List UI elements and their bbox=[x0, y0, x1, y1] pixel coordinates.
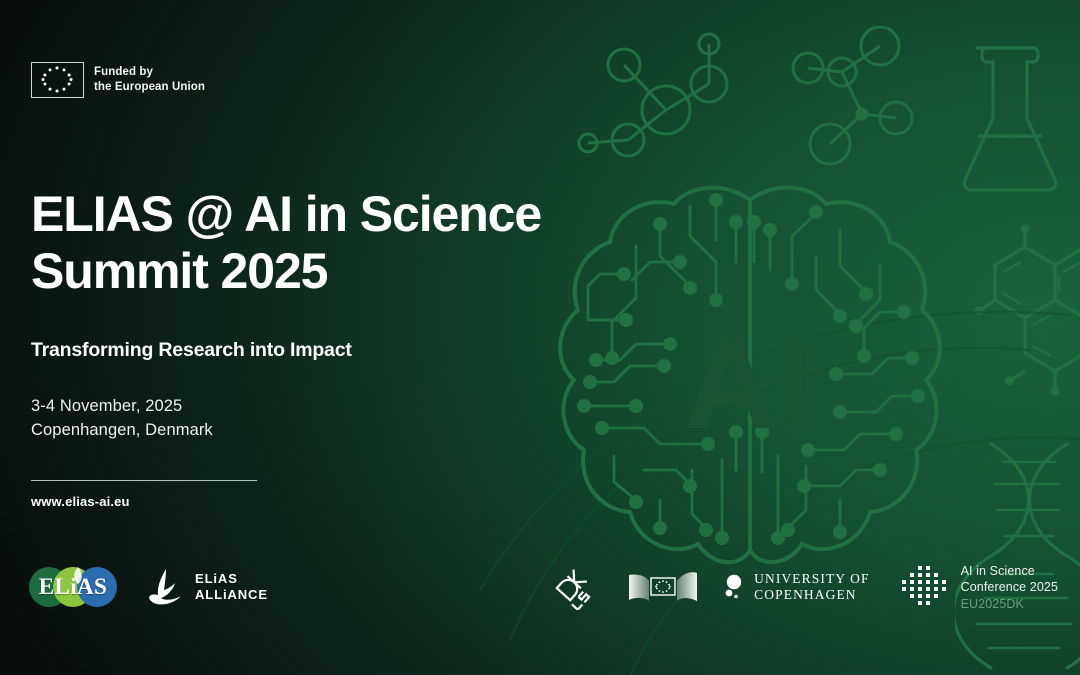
eu2025dk-monogram-logo[interactable] bbox=[555, 564, 601, 610]
alliance-wordmark: ELiAS ALLiANCE bbox=[195, 571, 268, 603]
headline-block: ELIAS @ AI in Science Summit 2025 Transf… bbox=[31, 186, 631, 509]
divider bbox=[31, 480, 257, 481]
organizer-logos: ELiAS ELiAS ALLiANCE bbox=[29, 566, 268, 608]
eu-flag-icon bbox=[31, 62, 84, 98]
ais-line-2: Conference 2025 bbox=[961, 579, 1058, 595]
eu2025dk-monogram-icon bbox=[555, 564, 601, 610]
date-location: 3-4 November, 2025 Copenhangen, Denmark bbox=[31, 395, 631, 443]
funded-by-label: Funded by the European Union bbox=[94, 65, 205, 95]
eu-presidency-icon bbox=[627, 567, 699, 607]
elias-logo[interactable]: ELiAS bbox=[29, 566, 117, 608]
dot-matrix-icon bbox=[896, 564, 950, 610]
ucph-wordmark: UNIVERSITY OF COPENHAGEN bbox=[754, 571, 869, 603]
website-url[interactable]: www.elias-ai.eu bbox=[31, 494, 631, 509]
partner-logos: UNIVERSITY OF COPENHAGEN bbox=[555, 563, 1058, 612]
funded-by-eu-badge: Funded by the European Union bbox=[31, 62, 205, 98]
ais-line-3: EU2025DK bbox=[961, 596, 1058, 612]
brain-ai-label: AI bbox=[684, 313, 816, 456]
event-banner: AI bbox=[0, 0, 1080, 675]
ai-in-science-conference-logo[interactable]: AI in Science Conference 2025 EU2025DK bbox=[896, 563, 1058, 612]
alliance-swoosh-icon bbox=[146, 566, 186, 608]
tagline: Transforming Research into Impact bbox=[31, 339, 631, 362]
elias-alliance-logo[interactable]: ELiAS ALLiANCE bbox=[146, 566, 268, 608]
danish-eu-presidency-logo[interactable] bbox=[627, 567, 699, 607]
page-title: ELIAS @ AI in Science Summit 2025 bbox=[31, 186, 631, 300]
ais-line-1: AI in Science bbox=[961, 563, 1058, 579]
university-of-copenhagen-logo[interactable]: UNIVERSITY OF COPENHAGEN bbox=[725, 571, 869, 603]
elias-wordmark: ELiAS bbox=[29, 566, 117, 608]
ucph-seal-icon bbox=[725, 574, 747, 600]
